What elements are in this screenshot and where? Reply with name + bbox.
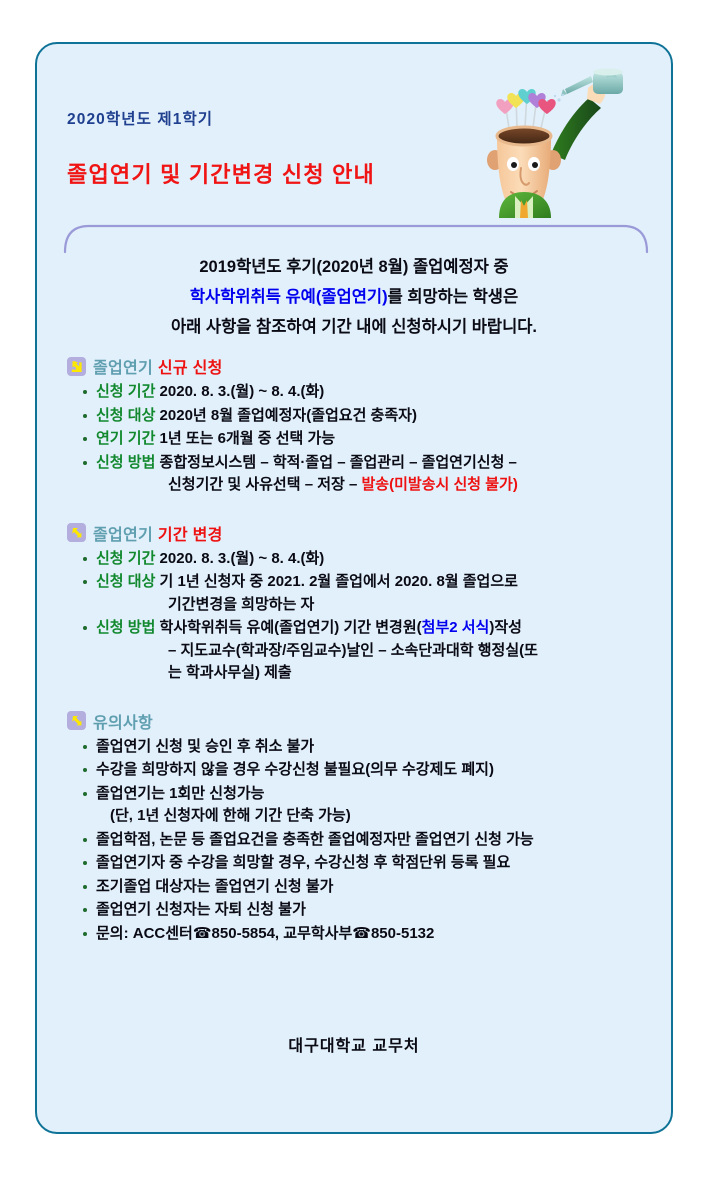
item-continuation: 신청기간 및 사유선택 – 저장 –: [168, 476, 362, 493]
list-item: 신청 방법 종합정보시스템 – 학적·졸업 – 졸업관리 – 졸업연기신청 –신…: [81, 452, 645, 497]
section-title-main: 졸업연기: [93, 360, 153, 377]
item-text-post: )작성: [489, 619, 522, 636]
arrow-down-right-icon: [67, 523, 86, 542]
section-header: 졸업연기 신규 신청: [67, 354, 645, 378]
item-continuation: 기간변경을 희망하는 자: [168, 596, 314, 613]
list-item: 신청 대상 기 1년 신청자 중 2021. 2월 졸업에서 2020. 8월 …: [81, 571, 645, 616]
page-title: 졸업연기 및 기간변경 신청 안내: [67, 157, 375, 189]
item-continuation-2: – 지도교수(학과장/주임교수)날인 – 소속단과대학 행정실(또: [168, 642, 538, 659]
section-title-main: 졸업연기: [93, 527, 153, 544]
arm-shape: [551, 98, 601, 160]
list-item: 신청 방법 학사학위취득 유예(졸업연기) 기간 변경원(첨부2 서식)작성– …: [81, 617, 645, 685]
list-item: 신청 기간 2020. 8. 3.(월) ~ 8. 4.(화): [81, 548, 645, 571]
list-item: 신청 기간 2020. 8. 3.(월) ~ 8. 4.(화): [81, 381, 645, 404]
section-title: 유의사항: [93, 709, 153, 733]
item-text: 2020. 8. 3.(월) ~ 8. 4.(화): [160, 550, 325, 567]
attachment-reference: 첨부2 서식: [422, 619, 490, 636]
item-continuation-3: 는 학과사무실) 제출: [168, 664, 292, 681]
section-bullet-list: 졸업연기 신청 및 승인 후 취소 불가 수강을 희망하지 않을 경우 수강신청…: [67, 736, 645, 946]
announcement-card: 2020학년도 제1학기 졸업연기 및 기간변경 신청 안내: [35, 42, 673, 1134]
intro-line-2: 학사학위취득 유예(졸업연기)를 희망하는 학생은: [37, 282, 671, 312]
item-continuation: (단, 1년 신청자에 한해 기간 단축 가능): [110, 807, 351, 824]
item-label: 연기 기간: [96, 430, 155, 447]
section-header: 유의사항: [67, 709, 645, 733]
section-bullet-list: 신청 기간 2020. 8. 3.(월) ~ 8. 4.(화) 신청 대상 20…: [67, 381, 645, 497]
list-item: 수강을 희망하지 않을 경우 수강신청 불필요(의무 수강제도 폐지): [81, 759, 645, 782]
section-title: 졸업연기 신규 신청: [93, 354, 223, 378]
footer-organization: 대구대학교 교무처: [37, 1032, 671, 1056]
man-watering-head-flowers-illustration: [455, 50, 655, 218]
item-text: 수강을 희망하지 않을 경우 수강신청 불필요(의무 수강제도 폐지): [96, 761, 494, 778]
item-text: 종합정보시스템 – 학적·졸업 – 졸업관리 – 졸업연기신청 –: [160, 454, 517, 471]
item-text: 졸업연기 신청자는 자퇴 신청 불가: [96, 901, 306, 918]
item-label: 신청 방법: [96, 454, 155, 471]
item-label: 신청 대상: [96, 573, 155, 590]
section-title-emphasis: 기간 변경: [158, 527, 223, 544]
arrow-down-right-icon: [67, 711, 86, 730]
item-text: 졸업연기는 1회만 신청가능: [96, 785, 264, 802]
item-text: 조기졸업 대상자는 졸업연기 신청 불가: [96, 878, 333, 895]
item-label: 신청 대상: [96, 407, 155, 424]
intro-line-1: 2019학년도 후기(2020년 8월) 졸업예정자 중: [37, 252, 671, 282]
item-text: 졸업학점, 논문 등 졸업요건을 충족한 졸업예정자만 졸업연기 신청 가능: [96, 831, 534, 848]
card-header: 2020학년도 제1학기 졸업연기 및 기간변경 신청 안내: [37, 44, 671, 218]
section-bullet-list: 신청 기간 2020. 8. 3.(월) ~ 8. 4.(화) 신청 대상 기 …: [67, 548, 645, 685]
item-text: 2020. 8. 3.(월) ~ 8. 4.(화): [160, 383, 325, 400]
intro-line-2-rest: 를 희망하는 학생은: [388, 288, 519, 306]
item-label: 신청 기간: [96, 550, 155, 567]
list-item: 신청 대상 2020년 8월 졸업예정자(졸업요건 충족자): [81, 405, 645, 428]
list-item: 졸업연기자 중 수강을 희망할 경우, 수강신청 후 학점단위 등록 필요: [81, 852, 645, 875]
item-label: 신청 기간: [96, 383, 155, 400]
contact-text: 문의: ACC센터☎850-5854, 교무학사부☎850-5132: [96, 925, 434, 942]
list-item: 졸업연기 신청자는 자퇴 신청 불가: [81, 899, 645, 922]
item-label: 신청 방법: [96, 619, 155, 636]
item-text: 기 1년 신청자 중 2021. 2월 졸업에서 2020. 8월 졸업으로: [160, 573, 518, 590]
list-item: 조기졸업 대상자는 졸업연기 신청 불가: [81, 876, 645, 899]
item-text: 졸업연기자 중 수강을 희망할 경우, 수강신청 후 학점단위 등록 필요: [96, 854, 510, 871]
item-continuation-emphasis: 발송(미발송시 신청 불가): [362, 476, 518, 493]
arrow-down-right-icon: [67, 357, 86, 376]
section-period-change: 졸업연기 기간 변경 신청 기간 2020. 8. 3.(월) ~ 8. 4.(…: [67, 521, 645, 685]
list-item: 졸업연기 신청 및 승인 후 취소 불가: [81, 736, 645, 759]
list-item-contact: 문의: ACC센터☎850-5854, 교무학사부☎850-5132: [81, 923, 645, 946]
list-item: 연기 기간 1년 또는 6개월 중 선택 가능: [81, 428, 645, 451]
item-text: 2020년 8월 졸업예정자(졸업요건 충족자): [160, 407, 417, 424]
section-precautions: 유의사항 졸업연기 신청 및 승인 후 취소 불가 수강을 희망하지 않을 경우…: [67, 709, 645, 946]
section-title: 졸업연기 기간 변경: [93, 521, 223, 545]
section-title-emphasis: 신규 신청: [158, 360, 223, 377]
item-text: 1년 또는 6개월 중 선택 가능: [160, 430, 336, 447]
list-item: 졸업학점, 논문 등 졸업요건을 충족한 졸업예정자만 졸업연기 신청 가능: [81, 829, 645, 852]
item-text-pre: 학사학위취득 유예(졸업연기) 기간 변경원(: [160, 619, 422, 636]
intro-line-3: 아래 사항을 참조하여 기간 내에 신청하시기 바랍니다.: [37, 312, 671, 342]
content-body: 졸업연기 신규 신청 신청 기간 2020. 8. 3.(월) ~ 8. 4.(…: [37, 354, 671, 949]
list-item: 졸업연기는 1회만 신청가능(단, 1년 신청자에 한해 기간 단축 가능): [81, 783, 645, 828]
item-text: 졸업연기 신청 및 승인 후 취소 불가: [96, 738, 314, 755]
intro-text: 2019학년도 후기(2020년 8월) 졸업예정자 중 학사학위취득 유예(졸…: [37, 252, 671, 342]
intro-highlight: 학사학위취득 유예(졸업연기): [190, 288, 388, 306]
section-new-application: 졸업연기 신규 신청 신청 기간 2020. 8. 3.(월) ~ 8. 4.(…: [67, 354, 645, 497]
school-year-label: 2020학년도 제1학기: [67, 107, 213, 129]
section-header: 졸업연기 기간 변경: [67, 521, 645, 545]
